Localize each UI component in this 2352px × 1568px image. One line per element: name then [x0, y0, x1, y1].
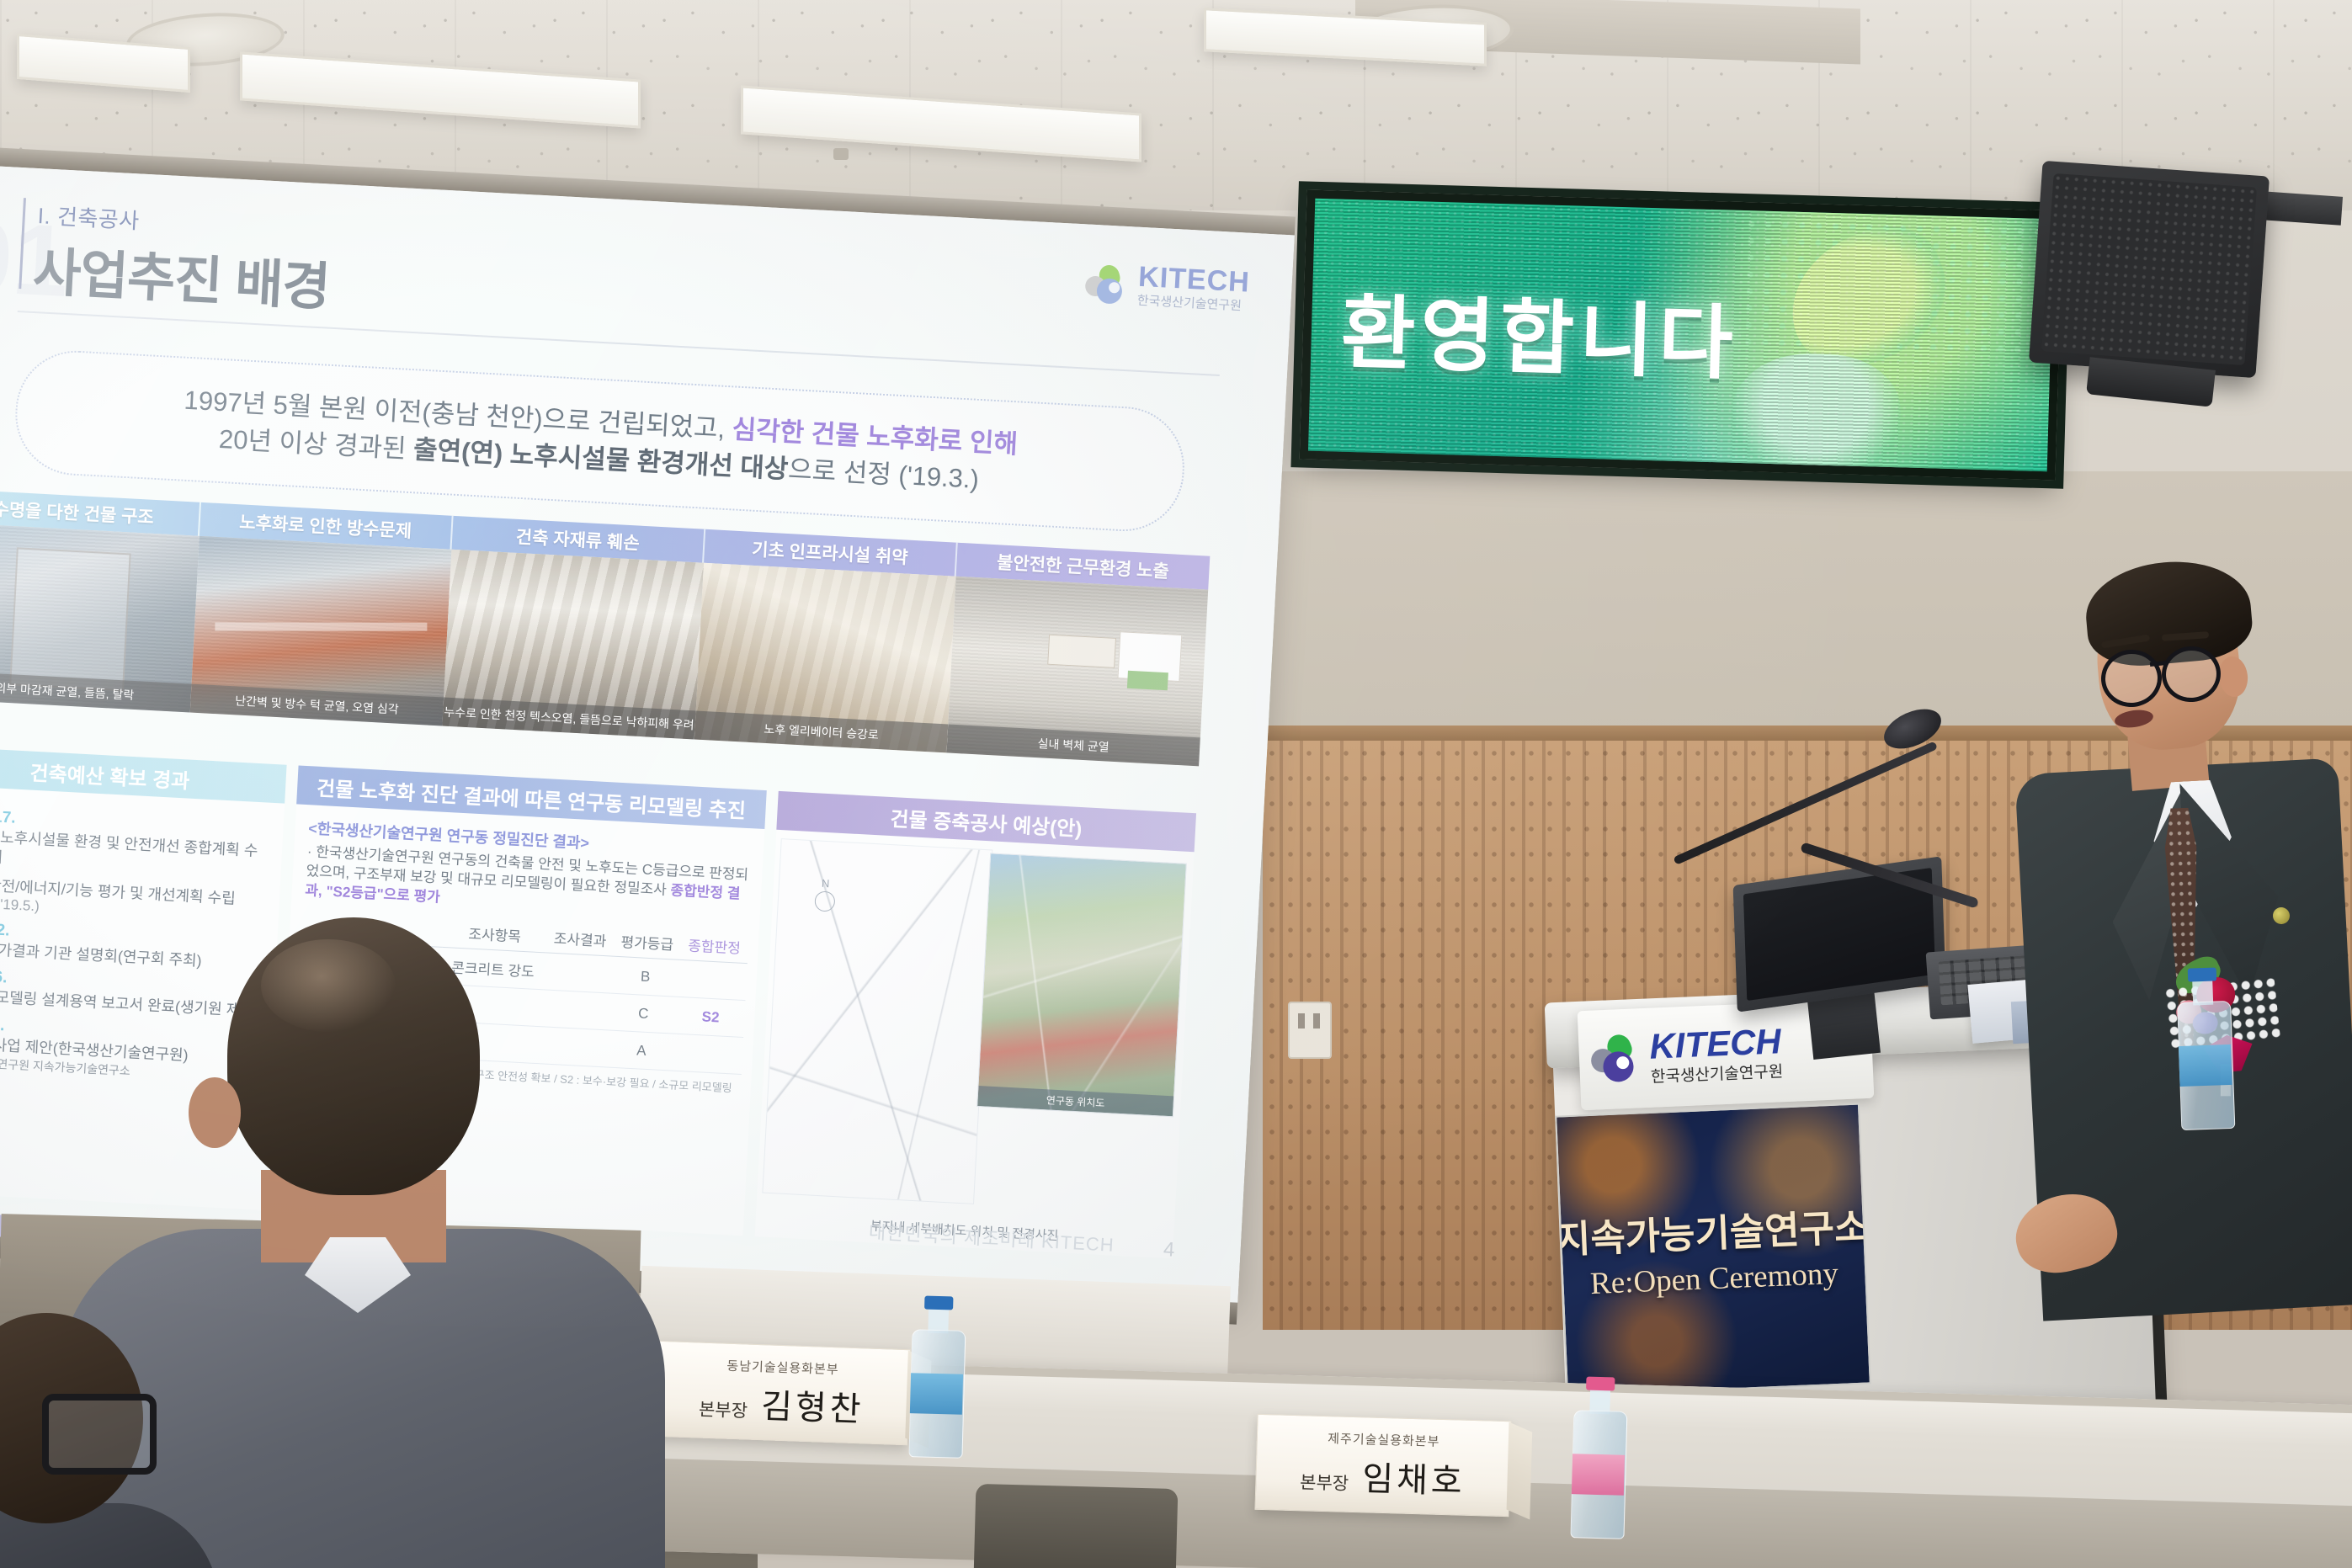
photo-image: 외부 마감재 균열, 들뜸, 탈락: [0, 523, 200, 713]
photo-image: 실내 벽체 균열: [946, 577, 1208, 767]
callout-line2-a: 20년 이상 경과된: [218, 424, 414, 464]
slide-kitech-logo: KITECH 한국생산기술연구원: [1084, 259, 1250, 314]
ceiling-speaker: [2029, 161, 2270, 378]
led-panel: 환영합니다: [1308, 199, 2054, 471]
photo-column: 기초 인프라시설 취약 노후 엘리베이터 승강로: [693, 529, 958, 787]
placard-department: 동남기술실용화본부: [726, 1356, 839, 1378]
audience-member-corner: [0, 1313, 202, 1568]
name-placard: 동남기술실용화본부 본부장 김형찬: [653, 1341, 911, 1445]
table-header-cell: 종합판정: [680, 928, 749, 964]
water-bottle: [1571, 1376, 1627, 1538]
aerial-photo: 연구동 위치도: [976, 853, 1187, 1117]
audience-hair-highlight: [261, 939, 396, 1032]
table-cell: S2: [676, 997, 745, 1038]
placard-title: 본부장: [1300, 1469, 1349, 1496]
panel-extension: 건물 증축공사 예상(안) N 연구동 위치도 부지내 세부배치도 위치 및 전…: [754, 791, 1196, 1259]
placard-name: 임채호: [1362, 1451, 1466, 1502]
sprinkler-head: [833, 148, 849, 160]
audience-ear: [189, 1077, 241, 1148]
photo-image: 누수로 인한 천정 텍스오염, 들뜸으로 낙하피해 우려: [442, 550, 704, 740]
table-cell: [678, 960, 747, 1001]
chair-back: [974, 1484, 1179, 1568]
podium-event-banner: 지속가능기술연구소 Re:Open Ceremony: [1555, 1103, 1871, 1397]
led-sign-text: 환영합니다: [1339, 267, 1739, 395]
wall-outlet: [1288, 1002, 1332, 1059]
slide-photo-strip: 수명을 다한 건물 구조 외부 마감재 균열, 들뜸, 탈락 노후화로 인한 방…: [0, 489, 1210, 800]
placard-fold: [1507, 1422, 1533, 1519]
slide-page-number: 4: [1163, 1238, 1175, 1262]
water-bottle: [2176, 967, 2234, 1129]
water-bottle: [909, 1295, 966, 1457]
table-cell: [674, 1034, 743, 1075]
placard-title: 본부장: [699, 1395, 748, 1422]
slide-title: 사업추진 배경: [31, 229, 332, 321]
north-label: N: [822, 877, 830, 890]
placard-department: 제주기술실용화본부: [1328, 1429, 1440, 1450]
placard-name: 김형찬: [760, 1379, 865, 1431]
presenter-at-podium: [2020, 555, 2352, 1313]
north-arrow-icon: N: [813, 876, 837, 911]
conference-room-photo: 환영합니다 01 I. 건축공사 사업추진 배경 KITECH 한국생산기술연구…: [0, 0, 2352, 1568]
eyeglasses-icon: [42, 1394, 157, 1475]
speaker-grille: [2041, 173, 2257, 365]
callout-line2-c: 으로 선정 ('19.3.): [787, 454, 979, 494]
kitech-mark-icon: [1590, 1034, 1641, 1084]
podium-logo-word: KITECH: [1649, 1023, 1783, 1065]
aerial-roads: [977, 853, 1186, 1116]
kitech-mark-icon: [1085, 263, 1131, 305]
name-placard: 제주기술실용화본부 본부장 임채호: [1254, 1414, 1511, 1517]
photo-column: 불안전한 근무환경 노출 실내 벽체 균열: [945, 543, 1210, 800]
photo-column: 수명을 다한 건물 구조 외부 마감재 균열, 들뜸, 탈락: [0, 489, 201, 747]
banner-title-kr: 지속가능기술연구소: [1555, 1196, 1870, 1264]
photo-image: 노후 엘리베이터 승강로: [694, 563, 956, 753]
photo-column: 건축 자재류 훼손 누수로 인한 천정 텍스오염, 들뜸으로 낙하피해 우려: [440, 516, 705, 773]
led-welcome-sign: 환영합니다: [1300, 190, 2063, 481]
monitor-screen: [1743, 868, 1935, 1001]
site-plan-lines: [763, 839, 992, 1204]
site-plan-drawing: N: [762, 838, 992, 1204]
photo-image: 난간벽 및 방수 턱 균열, 오염 심각: [190, 536, 452, 726]
banner-title-en: Re:Open Ceremony: [1589, 1256, 1838, 1302]
photo-column: 노후화로 인한 방수문제 난간벽 및 방수 턱 균열, 오염 심각: [189, 502, 454, 760]
table-header-cell: 평가등급: [613, 925, 682, 960]
